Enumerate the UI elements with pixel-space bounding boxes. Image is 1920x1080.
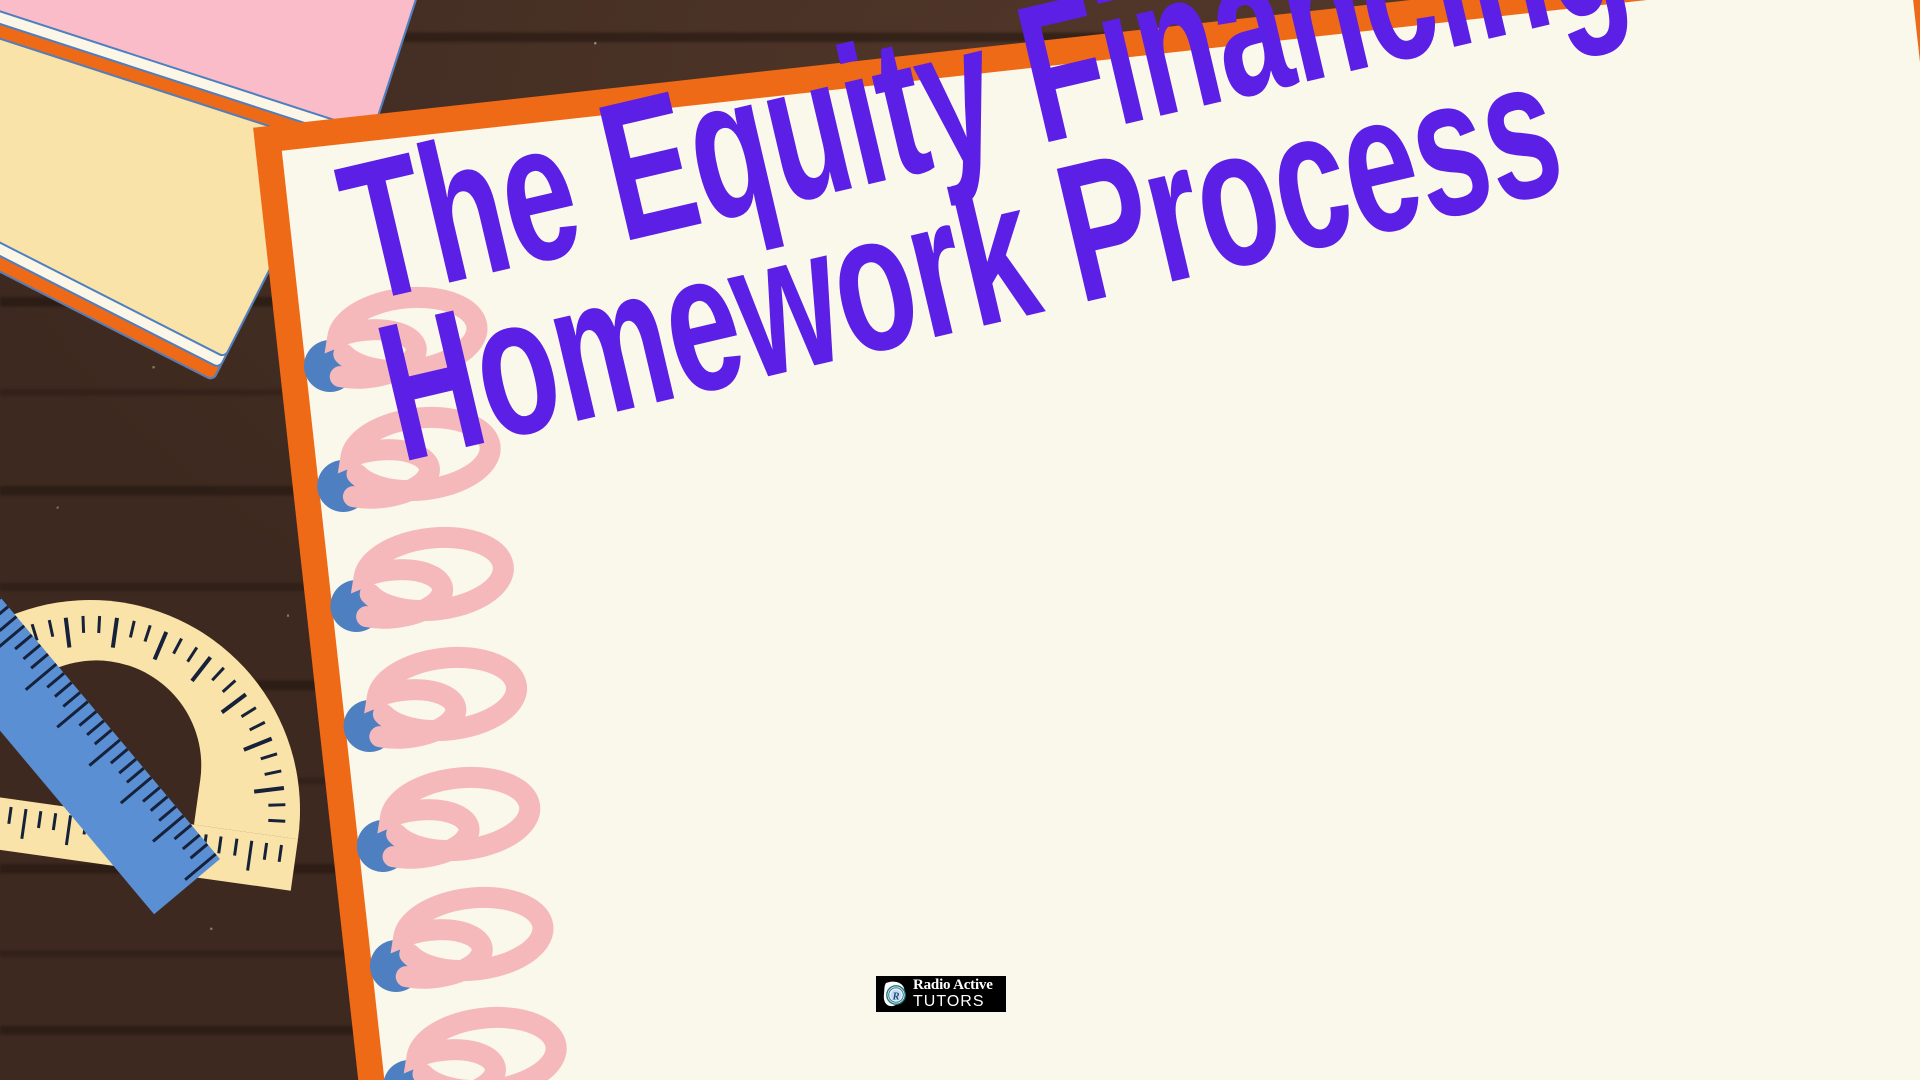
slide-canvas: The Equity Financing Homework Process R … [0,0,1920,1080]
svg-text:R: R [891,991,899,1002]
brand-logo-text: Radio Active TUTORS [913,978,993,1010]
brand-logo: R Radio Active TUTORS [876,976,1006,1012]
brand-badge-icon: R [880,979,910,1009]
brand-logo-line-2: TUTORS [913,994,993,1010]
brand-logo-line-1: Radio Active [913,978,993,993]
